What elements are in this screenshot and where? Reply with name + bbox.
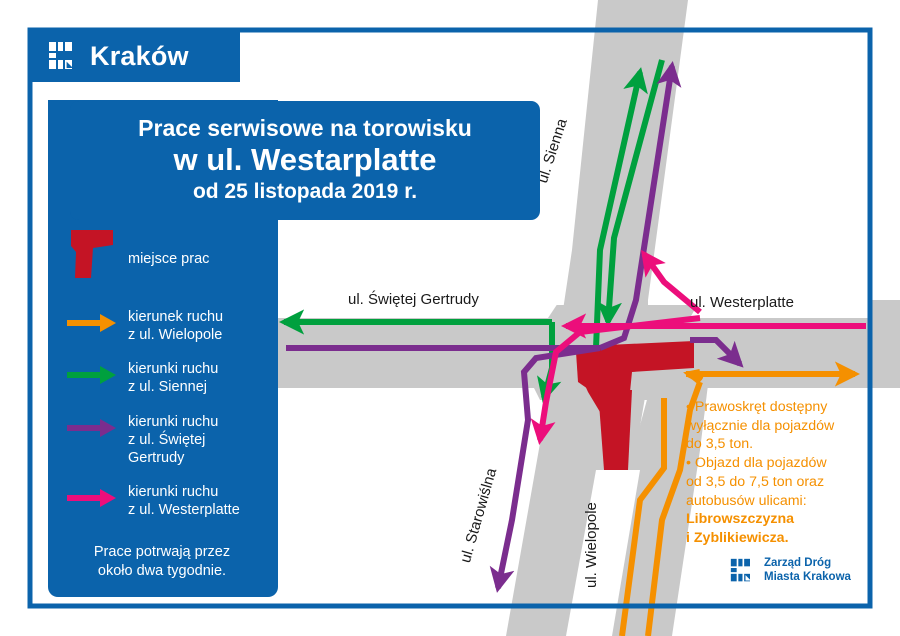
note-line-3: do 3,5 ton. [686,435,862,454]
legend-label-worksite: miejsce prac [128,228,209,268]
note-line-2: wyłącznie dla pojazdów [686,417,862,436]
street-label-westerplatte: ul. Westerplatte [690,294,794,311]
note-line-4: • Objazd dla pojazdów [686,454,862,473]
krakow-grid-logo-icon [48,41,78,71]
zdmk-footer-logo: Zarząd Dróg Miasta Krakowa [730,556,851,585]
infographic-map: miejsce prac kierunek ruchu z ul. Wielop… [0,0,900,636]
title-line-1: Prace serwisowe na torowisku [80,115,530,142]
brand-header: Kraków [30,30,240,82]
zdmk-org-name: Zarząd Dróg Miasta Krakowa [764,556,851,585]
legend-item-sienna: kierunki ruchu z ul. Siennej [66,358,278,396]
street-label-wielopole: ul. Wielopole [583,502,600,588]
title-card: Prace serwisowe na torowisku w ul. Westa… [70,101,540,220]
legend-label-wielopole: kierunek ruchu z ul. Wielopole [128,306,223,344]
arrow-right-magenta-icon [66,481,118,515]
worksite-swatch-icon [66,228,118,292]
note-line-5: od 3,5 do 7,5 ton oraz [686,473,862,492]
krakow-grid-logo-icon [730,558,755,583]
note-line-7: Librowszczyzna [686,510,862,529]
street-label-swietej-gertrudy: ul. Świętej Gertrudy [348,291,479,308]
title-line-2: w ul. Westarplatte [80,142,530,179]
legend-label-gertrudy: kierunki ruchu z ul. Świętej Gertrudy [128,411,218,467]
legend-label-westerplatte: kierunki ruchu z ul. Westerplatte [128,481,240,519]
legend-footnote: Prace potrwają przez około dwa tygodnie. [62,533,278,581]
note-line-8: i Zyblikiewicza. [686,529,862,548]
legend-item-westerplatte: kierunki ruchu z ul. Westerplatte [66,481,278,519]
restrictions-note: • Prawoskręt dostępny wyłącznie dla poja… [686,398,862,548]
legend-item-gertrudy: kierunki ruchu z ul. Świętej Gertrudy [66,411,278,467]
brand-city-name: Kraków [90,43,189,70]
legend-item-worksite: miejsce prac [66,228,278,292]
zdmk-line-1: Zarząd Dróg [764,557,831,569]
arrow-right-green-icon [66,358,118,392]
arrow-right-orange-icon [66,306,118,340]
arrow-right-purple-icon [66,411,118,445]
legend-item-wielopole: kierunek ruchu z ul. Wielopole [66,306,278,344]
zdmk-line-2: Miasta Krakowa [764,571,851,583]
legend-label-sienna: kierunki ruchu z ul. Siennej [128,358,218,396]
legend: miejsce prac kierunek ruchu z ul. Wielop… [48,228,278,581]
note-line-6: autobusów ulicami: [686,492,862,511]
title-line-3: od 25 listopada 2019 r. [80,179,530,205]
note-line-1: • Prawoskręt dostępny [686,398,862,417]
